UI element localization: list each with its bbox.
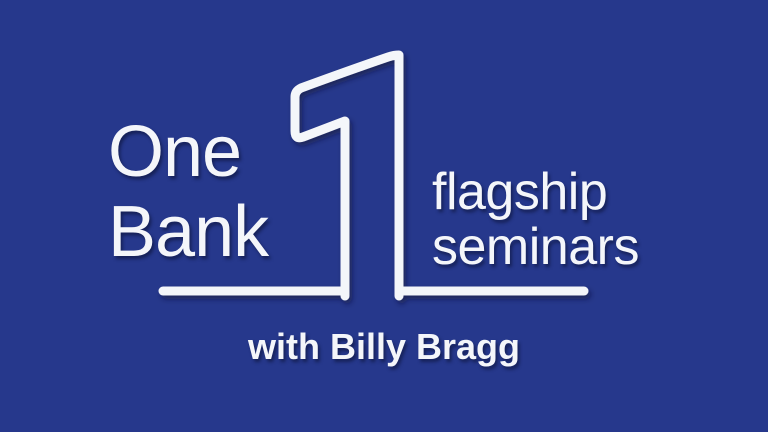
- title-card: One Bank flagship seminars with Billy Br…: [0, 0, 768, 432]
- product-word-flagship: flagship: [432, 166, 607, 218]
- presenter-credit: with Billy Bragg: [0, 327, 768, 367]
- brand-word-bank: Bank: [108, 196, 268, 268]
- brand-word-one: One: [108, 116, 241, 188]
- product-word-seminars: seminars: [432, 221, 639, 273]
